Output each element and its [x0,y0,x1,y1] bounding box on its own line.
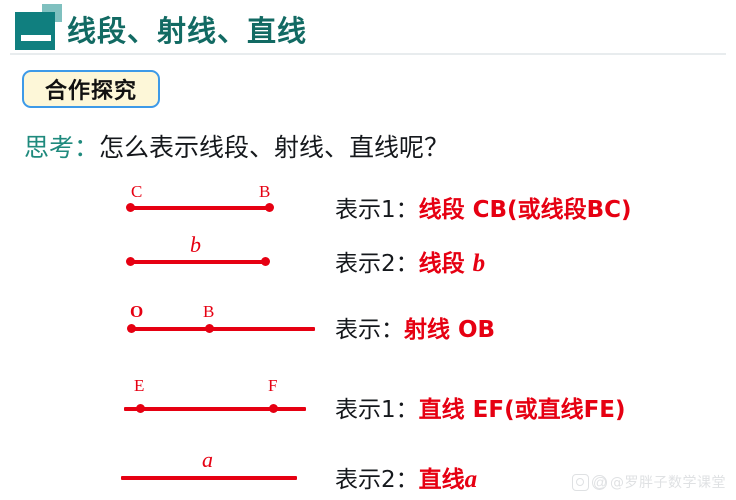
section-badge-label: 合作探究 [45,73,137,105]
point-label-o: O [130,302,143,322]
notation-value-italic: a [465,466,478,493]
watermark-logo-icon [572,474,589,491]
point-label-c: C [131,182,142,202]
line-a-notation: 表示2：直线a [335,460,477,494]
ray-stroke [130,327,315,331]
notation-lead: 表示1： [335,397,419,423]
notation-value: 直线 EF(或直线FE) [419,397,626,423]
header-divider [10,53,726,55]
segment-cb-figure: C B [0,182,330,238]
figure-row-ray-ob: O B 表示：射线 OB [0,297,736,353]
question-lead: 思考： [24,133,99,162]
notation-lead: 表示2： [335,467,419,493]
segment-endpoint-right [261,257,270,266]
ray-ob-notation: 表示：射线 OB [335,310,495,344]
point-label-e: E [134,376,144,396]
page-title: 线段、射线、直线 [67,8,307,50]
slide-header: 线段、射线、直线 [0,0,736,60]
line-point-e [136,404,145,413]
notation-lead: 表示： [335,317,404,343]
segment-name-label-b: b [190,232,201,258]
notation-value-italic: b [473,250,486,277]
notation-lead: 表示1： [335,197,419,223]
ray-ob-figure: O B [0,297,330,353]
point-label-b: B [203,302,214,322]
line-a-figure: a [0,443,330,499]
watermark: @ @罗胖子数学课堂 [572,472,726,492]
segment-endpoint-c [126,203,135,212]
line-stroke [124,407,306,411]
line-ef-figure: E F [0,372,330,428]
notation-value: 线段 CB(或线段BC) [419,197,632,223]
line-point-f [269,404,278,413]
segment-stroke [129,260,266,264]
segment-b-notation: 表示2：线段 b [335,244,485,278]
line-stroke [121,476,297,480]
ray-point-b [205,324,214,333]
figure-row-line-ef: E F 表示1：直线 EF(或直线FE) [0,372,736,428]
watermark-handle: @罗胖子数学课堂 [610,472,726,492]
question-prompt: 思考：怎么表示线段、射线、直线呢？ [24,128,449,164]
question-body: 怎么表示线段、射线、直线呢？ [99,133,449,162]
segment-cb-notation: 表示1：线段 CB(或线段BC) [335,190,632,224]
notation-value: 射线 OB [404,317,495,343]
point-label-f: F [268,376,277,396]
at-sign-icon: @ [592,475,607,490]
line-name-label-a: a [202,447,213,473]
segment-stroke [129,206,270,210]
note-square-icon-body [15,12,55,50]
figure-row-segment-cb: C B 表示1：线段 CB(或线段BC) [0,182,736,238]
notation-value: 直线 [419,467,465,493]
line-ef-notation: 表示1：直线 EF(或直线FE) [335,390,626,424]
figure-row-segment-b: b 表示2：线段 b [0,236,736,292]
notation-lead: 表示2： [335,251,419,277]
section-badge: 合作探究 [22,70,160,108]
note-square-icon-bar [21,35,51,41]
segment-endpoint-b [265,203,274,212]
ray-endpoint-o [127,324,136,333]
note-square-icon [15,4,63,50]
notation-value: 线段 [419,251,473,277]
segment-endpoint-left [126,257,135,266]
segment-b-figure: b [0,236,330,292]
point-label-b: B [259,182,270,202]
